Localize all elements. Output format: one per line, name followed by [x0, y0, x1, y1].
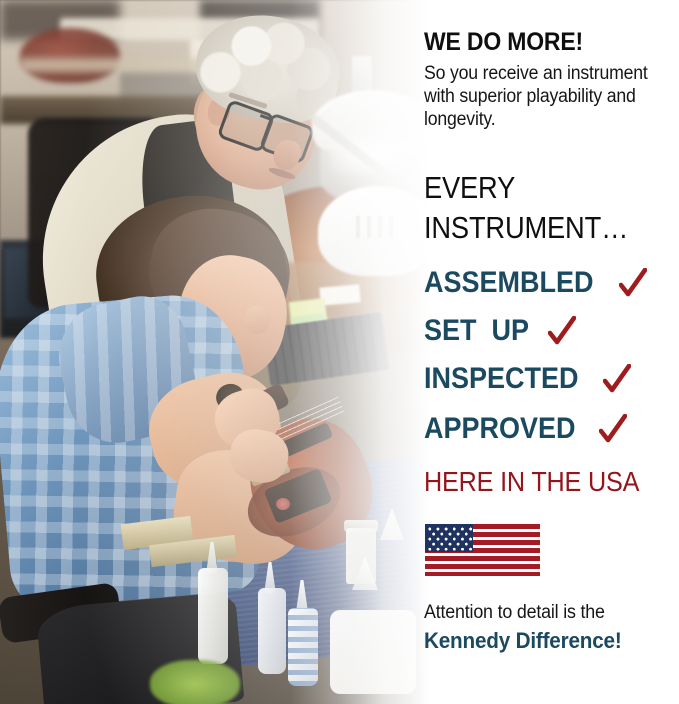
check-mark-icon — [599, 414, 627, 444]
checklist-item-approved: APPROVED — [424, 412, 627, 446]
checklist-item-inspected: INSPECTED — [424, 362, 631, 396]
glue-bottle-3 — [288, 608, 318, 686]
checklist-label-inspected: INSPECTED — [424, 362, 579, 396]
check-mark-icon — [603, 364, 631, 394]
american-flag-icon — [425, 524, 540, 576]
background-instrument-case — [20, 28, 120, 83]
glue-bottle-2 — [258, 588, 286, 674]
flag-stars — [425, 524, 473, 552]
every-line-2: INSTRUMENT… — [424, 210, 628, 246]
workshop-photo — [0, 0, 430, 704]
tagline-line-2: Kennedy Difference! — [424, 628, 622, 654]
checklist-label-assembled: ASSEMBLED — [424, 266, 594, 300]
headline: WE DO MORE! — [424, 28, 583, 57]
green-cloth — [150, 660, 240, 704]
made-in-usa-line: HERE IN THE USA — [424, 466, 639, 498]
glue-bottle-1 — [198, 568, 228, 664]
subheadline: So you receive an instrument with superi… — [424, 62, 664, 131]
tagline-line-1: Attention to detail is the — [424, 602, 605, 624]
white-jar — [330, 610, 416, 694]
check-mark-icon — [619, 268, 647, 298]
checklist-item-set-up: SET UP — [424, 314, 576, 348]
work-lamp-vents — [356, 216, 398, 238]
marketing-text-panel: WE DO MORE! So you receive an instrument… — [418, 0, 679, 704]
checklist-item-assembled: ASSEMBLED — [424, 266, 647, 300]
promotional-poster: WE DO MORE! So you receive an instrument… — [0, 0, 679, 704]
checklist-label-set-up: SET UP — [424, 314, 529, 348]
check-mark-icon — [548, 316, 576, 346]
bench-small-red-object — [276, 498, 290, 510]
bench-paper-note — [319, 284, 360, 305]
every-line-1: EVERY — [424, 170, 515, 206]
checklist-label-approved: APPROVED — [424, 412, 576, 446]
